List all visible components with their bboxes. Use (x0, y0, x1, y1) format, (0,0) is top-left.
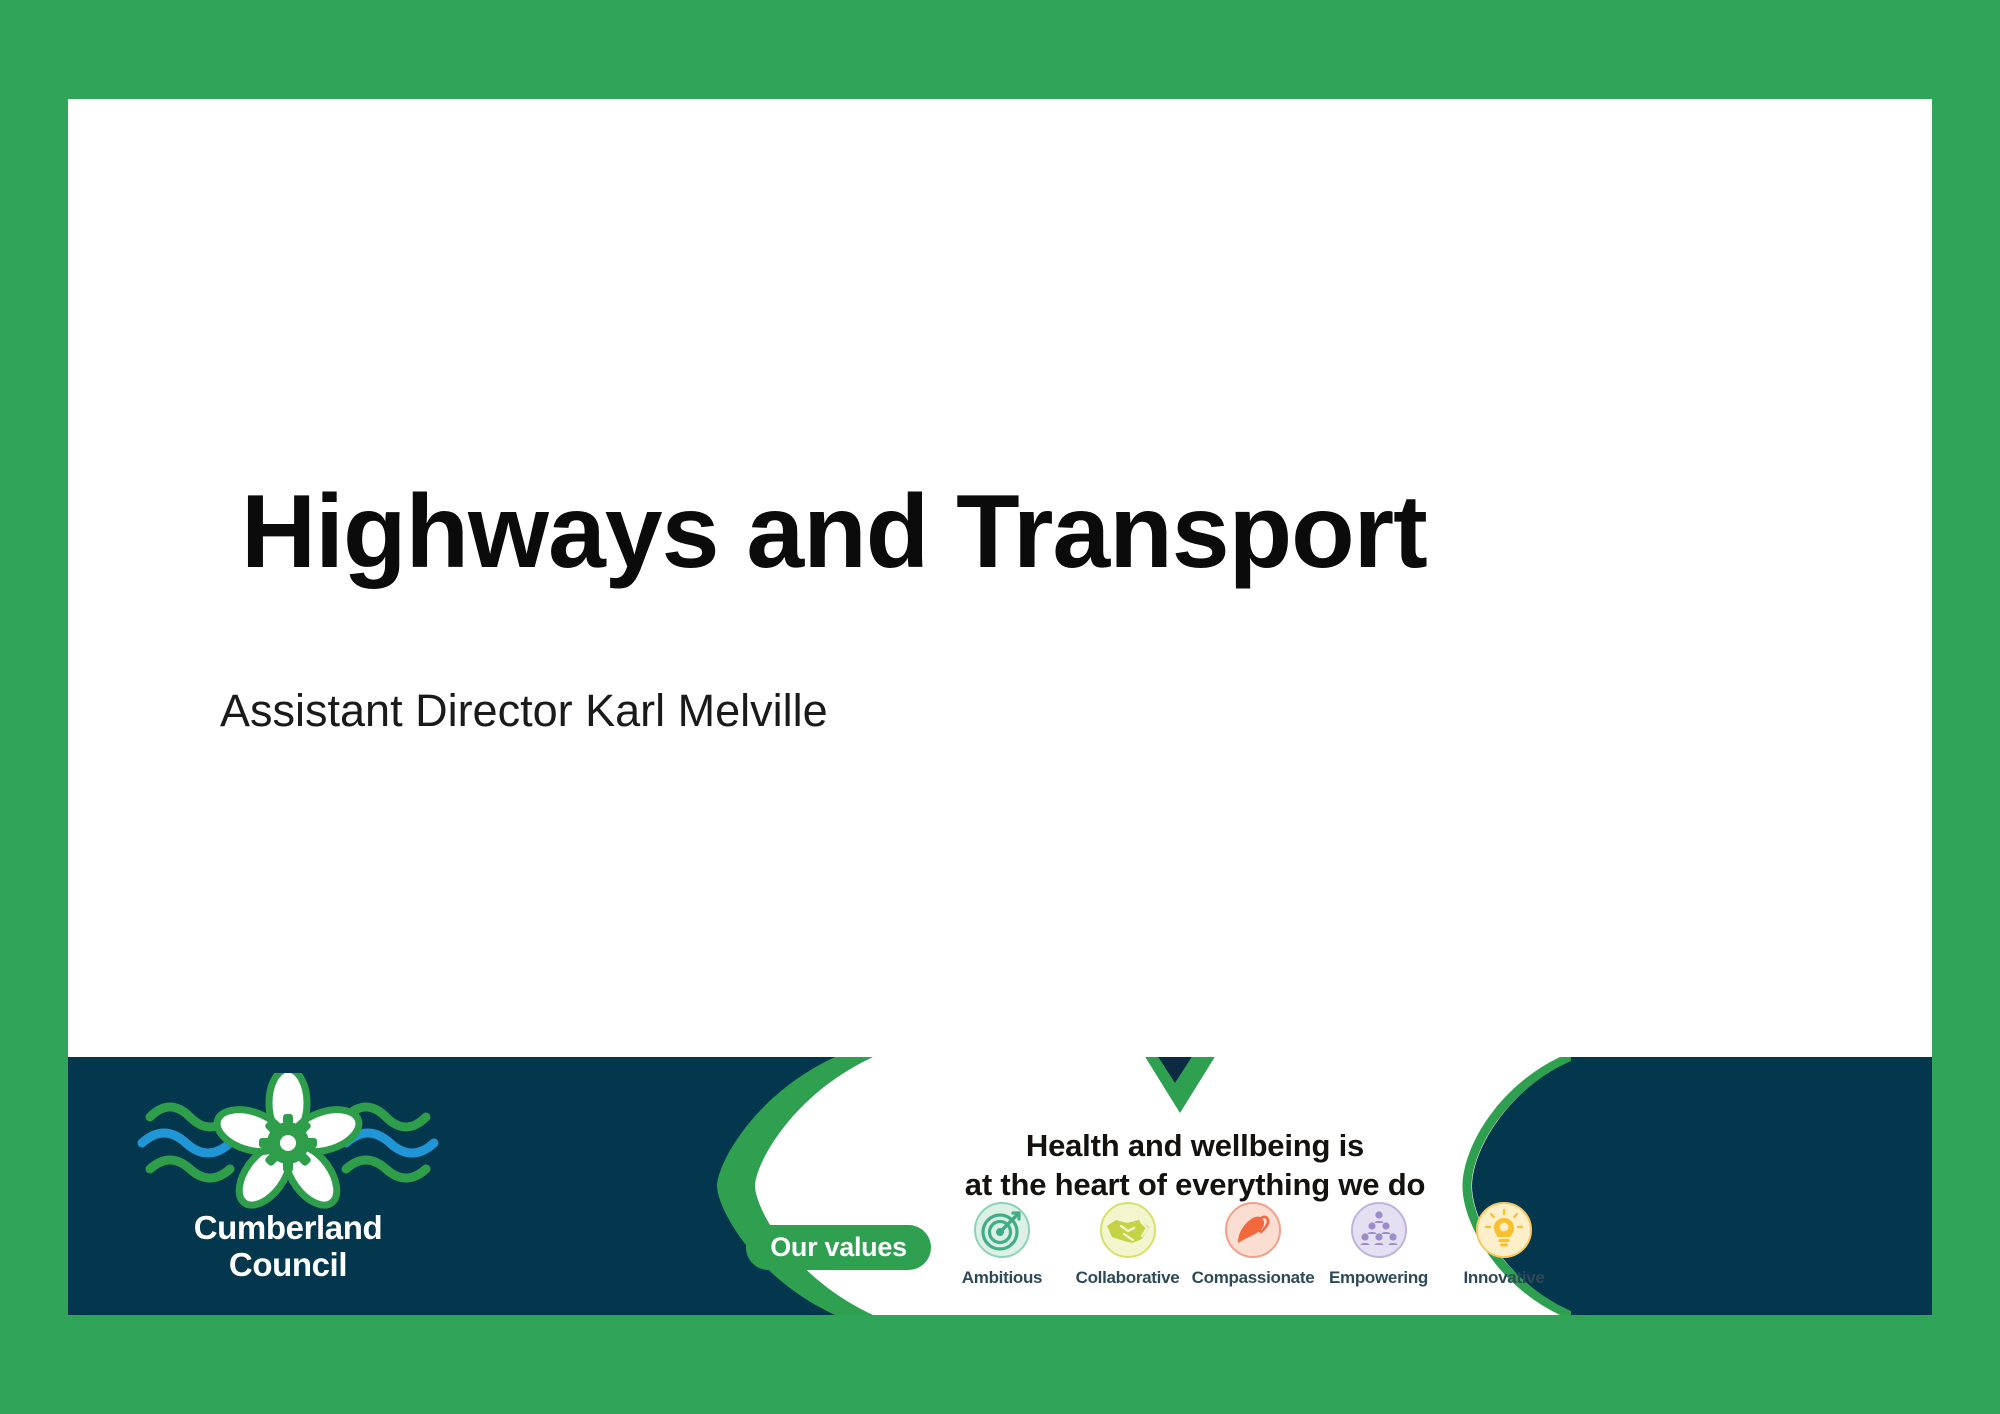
value-item-collaborative: Collaborative (1069, 1201, 1187, 1288)
values-headline-line2: at the heart of everything we do (835, 1165, 1555, 1204)
values-banner: Health and wellbeing is at the heart of … (715, 1057, 1571, 1315)
values-headline: Health and wellbeing is at the heart of … (835, 1126, 1555, 1205)
slide-canvas: Highways and Transport Assistant Directo… (0, 0, 2000, 1414)
value-label-compassionate: Compassionate (1192, 1268, 1315, 1288)
people-group-icon (1350, 1201, 1408, 1259)
council-wordmark-line1: Cumberland (128, 1209, 448, 1246)
value-item-compassionate: Compassionate (1194, 1201, 1312, 1288)
value-label-ambitious: Ambitious (962, 1268, 1042, 1288)
value-item-ambitious: Ambitious (943, 1201, 1061, 1288)
page-title: Highways and Transport (241, 478, 1841, 587)
value-item-innovative: Innovative (1445, 1201, 1563, 1288)
target-icon (973, 1201, 1031, 1259)
cumberland-flower-icon (128, 1073, 448, 1213)
our-values-pill: Our values (746, 1225, 931, 1270)
handshake-icon (1099, 1201, 1157, 1259)
lightbulb-icon (1475, 1201, 1533, 1259)
value-label-collaborative: Collaborative (1076, 1268, 1180, 1288)
value-label-empowering: Empowering (1329, 1268, 1428, 1288)
council-wordmark: Cumberland Council (128, 1209, 448, 1284)
values-list: Ambitious (943, 1201, 1563, 1288)
council-wordmark-line2: Council (128, 1246, 448, 1283)
values-headline-line1: Health and wellbeing is (835, 1126, 1555, 1165)
slide-subtitle: Assistant Director Karl Melville (220, 684, 1620, 738)
footer-band: Cumberland Council (68, 1057, 1932, 1315)
council-logo: Cumberland Council (128, 1073, 448, 1299)
value-item-empowering: Empowering (1320, 1201, 1438, 1288)
heart-hand-icon (1224, 1201, 1282, 1259)
slide-surface: Highways and Transport Assistant Directo… (68, 99, 1932, 1315)
chevron-down-marker-icon (1144, 1057, 1216, 1113)
value-label-innovative: Innovative (1463, 1268, 1544, 1288)
